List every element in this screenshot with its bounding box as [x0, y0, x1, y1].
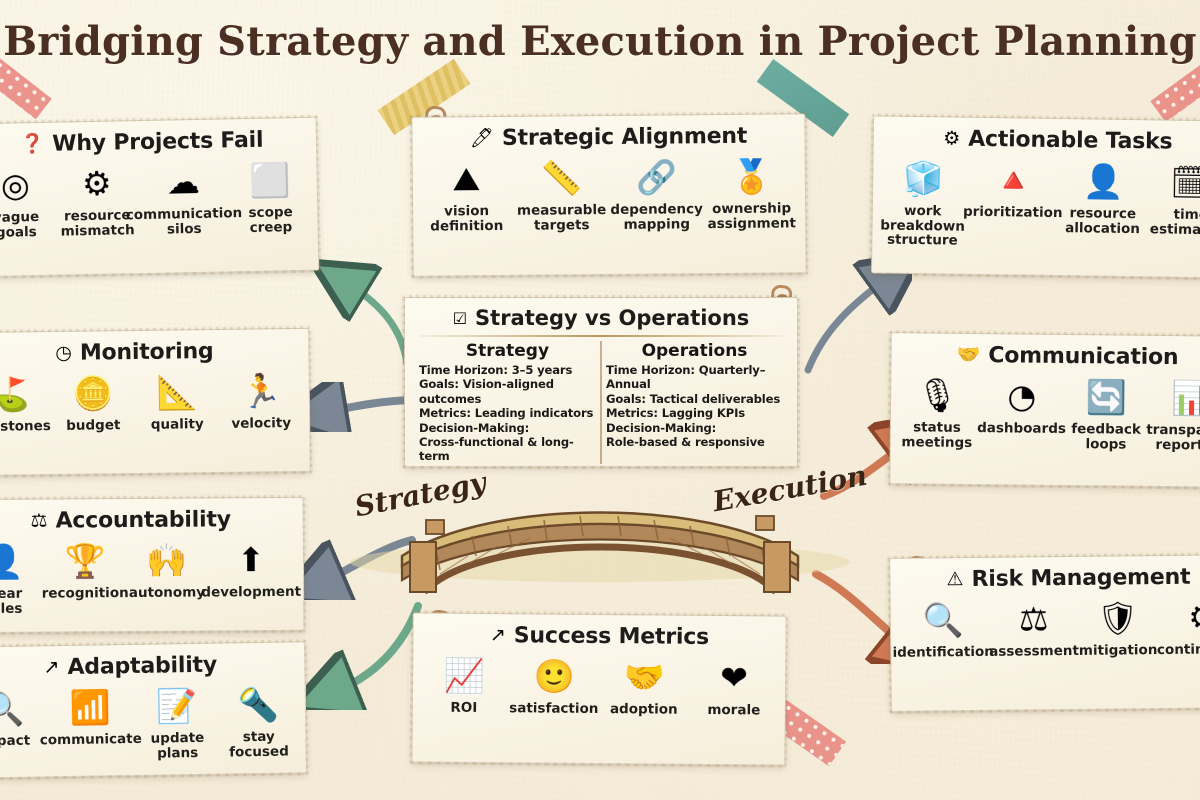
item-label: stay focused — [218, 729, 300, 759]
card-items: 🎙status meetings ◔dashboards 🔄feedback l… — [891, 367, 1200, 453]
row-value: Role-based & responsive — [606, 435, 783, 449]
item-label: identification — [893, 645, 994, 661]
card-items: ◎vague goals ⚙resource mismatch ☁communi… — [0, 152, 318, 241]
question-mark-icon: ❓ — [20, 135, 44, 154]
target-icon: ◎ — [1, 163, 31, 208]
column-strategy: Strategy Time Horizon: 3–5 years Goals: … — [415, 341, 602, 464]
row-value: Metrics: Lagging KPIs — [606, 406, 783, 420]
row-value: Time Horizon: 3–5 years — [419, 363, 596, 377]
list-item[interactable]: 🔄feedback loops — [1066, 375, 1147, 452]
item-label: resource allocation — [1058, 206, 1146, 236]
document-pen-icon: 📝 — [156, 684, 198, 729]
row-value: Cross-functional & long-term — [419, 435, 596, 464]
row-value: Goals: Tactical deliverables — [606, 392, 783, 406]
list-item[interactable]: 🔦stay focused — [217, 682, 300, 759]
item-label: transparent reporting — [1146, 423, 1200, 453]
list-item[interactable]: 👤clear roles — [0, 540, 42, 617]
card-items: 🧊work breakdown structure 🔺prioritizatio… — [872, 150, 1200, 252]
item-label: adoption — [610, 702, 678, 717]
card-communication[interactable]: 🤝 Communication 🎙status meetings ◔dashbo… — [889, 332, 1200, 488]
mountain-sun-icon: ⛰ — [452, 157, 480, 201]
card-strategy-vs-operations[interactable]: ☑ Strategy vs Operations Strategy Time H… — [404, 297, 798, 467]
compass-pen-icon: 🖊 — [470, 129, 494, 148]
blocks-icon: 🧊 — [902, 157, 944, 202]
list-item[interactable]: 🔺prioritization — [967, 158, 1060, 221]
list-item[interactable]: 📏measurable targets — [515, 156, 608, 233]
item-label: communication silos — [126, 206, 243, 237]
list-item[interactable]: ⚖assessment — [989, 597, 1079, 660]
card-title: Success Metrics — [514, 623, 709, 650]
list-item[interactable]: ⚙contingency — [1157, 595, 1200, 658]
list-item[interactable]: 📝update plans — [136, 684, 219, 761]
row-value: Decision-Making: — [419, 421, 596, 435]
list-item[interactable]: 📶communicate — [44, 685, 137, 748]
item-label: ROI — [450, 701, 477, 716]
award-ribbon-icon: 🏆 — [64, 539, 105, 583]
growth-chart-icon: 📈 — [443, 654, 484, 698]
list-item[interactable]: 🛡mitigation — [1078, 596, 1157, 658]
card-success-metrics[interactable]: ↗ Success Metrics 📈ROI 🙂satisfaction 🤝ad… — [411, 612, 786, 765]
page-title: Bridging Strategy and Execution in Proje… — [0, 18, 1200, 65]
item-label: milestones — [0, 419, 51, 435]
checkbox-icon: ☑ — [453, 309, 467, 328]
item-label: dashboards — [977, 421, 1066, 437]
item-label: contingency — [1157, 642, 1200, 658]
row-value: Time Horizon: Quarterly–Annual — [606, 363, 783, 392]
list-item[interactable]: 🗓time estimation — [1146, 160, 1200, 237]
card-items: 🔍impact 📶communicate 📝update plans 🔦stay… — [0, 676, 306, 764]
list-item[interactable]: 🙂satisfaction — [509, 654, 600, 716]
scales-icon: ⚖ — [1019, 597, 1049, 641]
item-label: dependency mapping — [610, 202, 703, 232]
card-header: ↗ Success Metrics — [413, 613, 785, 650]
raised-arms-person-icon: 🙌 — [146, 539, 187, 583]
list-item[interactable]: 📐quality — [135, 370, 220, 433]
item-label: communicate — [40, 732, 142, 748]
gauge-icon: ◔ — [1007, 374, 1036, 418]
person-tools-icon: 👤 — [1082, 159, 1124, 204]
item-label: recognition — [42, 586, 129, 601]
growth-arrows-icon: ⬆ — [237, 538, 265, 582]
gears-icon: ⚙ — [82, 162, 112, 207]
card-title: Why Projects Fail — [52, 128, 264, 157]
bridge-illustration: Strategy Execution — [340, 470, 860, 605]
handshake-team-icon: 🤝 — [623, 655, 664, 699]
card-header: 🖊 Strategic Alignment — [412, 114, 804, 151]
list-item[interactable]: 🤝adoption — [599, 655, 690, 717]
item-label: autonomy — [129, 585, 205, 600]
card-title: Monitoring — [80, 339, 214, 366]
item-label: vague goals — [0, 210, 57, 241]
magnifier-cloud-icon: 🔍 — [922, 598, 964, 642]
row-value: Goals: Vision-aligned outcomes — [419, 377, 596, 406]
list-item[interactable]: ⬆development — [205, 538, 297, 600]
flag-icon: ⛳ — [0, 372, 30, 416]
list-item[interactable]: ⬜scope creep — [229, 158, 312, 236]
card-header: ⚖ Accountability — [0, 498, 303, 534]
chain-link-icon: 🔗 — [636, 155, 677, 199]
list-item[interactable]: 🏆recognition — [41, 539, 128, 601]
list-item[interactable]: 📊transparent reporting — [1146, 376, 1200, 453]
hand-badge-icon: 🏅 — [731, 155, 772, 199]
compare-title: Strategy vs Operations — [475, 306, 749, 330]
card-adaptability[interactable]: ↗ Adaptability 🔍impact 📶communicate 📝upd… — [0, 641, 307, 778]
card-monitoring[interactable]: ◷ Monitoring ⛳milestones 🪙budget 📐qualit… — [0, 328, 311, 476]
spotlight-person-icon: 🔦 — [237, 683, 279, 728]
item-label: time estimation — [1146, 207, 1200, 237]
item-label: feedback loops — [1066, 422, 1147, 452]
expanding-square-icon: ⬜ — [249, 158, 291, 203]
card-items: 🔍identification ⚖assessment 🛡mitigation … — [891, 589, 1200, 660]
card-header: ↗ Adaptability — [0, 642, 304, 681]
card-header: ⚙ Actionable Tasks — [874, 116, 1200, 155]
list-item[interactable]: ☁communication silos — [137, 159, 230, 237]
compare-header: ☑ Strategy vs Operations — [405, 298, 797, 330]
row-value: Metrics: Leading indicators — [419, 406, 596, 420]
up-arrow-icon: ↗ — [490, 626, 506, 645]
microphone-icon: 🎙 — [916, 373, 958, 417]
item-label: vision definition — [421, 204, 513, 234]
list-item[interactable]: ⛳milestones — [0, 372, 51, 435]
list-item[interactable]: 🪙budget — [51, 371, 136, 434]
running-person-icon: 🏃 — [240, 369, 282, 413]
cloud-arrow-icon: ☁ — [166, 160, 200, 205]
ruler-icon: 📏 — [541, 156, 582, 200]
item-label: prioritization — [963, 205, 1063, 221]
item-label: morale — [707, 703, 760, 718]
card-title: Actionable Tasks — [968, 127, 1173, 155]
magnifier-gear-icon: 🔍 — [0, 687, 25, 732]
item-label: clear roles — [0, 587, 42, 617]
list-item[interactable]: 🙌autonomy — [128, 538, 205, 600]
item-label: impact — [0, 734, 30, 749]
card-why-projects-fail[interactable]: ❓ Why Projects Fail ◎vague goals ⚙resour… — [0, 117, 319, 278]
bent-arrow-icon: ↗ — [43, 658, 59, 677]
compare-columns: Strategy Time Horizon: 3–5 years Goals: … — [405, 337, 797, 464]
item-label: scope creep — [230, 205, 312, 236]
item-label: assessment — [989, 644, 1079, 660]
dashboard-icon: ◷ — [55, 344, 72, 363]
item-label: budget — [66, 418, 120, 433]
heart-fist-icon: ❤ — [720, 656, 748, 700]
card-title: Risk Management — [971, 565, 1190, 592]
handshake-icon: 🤝 — [957, 346, 981, 365]
column-header: Strategy — [419, 341, 596, 361]
item-label: update plans — [137, 731, 219, 761]
item-label: velocity — [231, 416, 291, 431]
item-label: development — [201, 585, 301, 600]
card-header: ◷ Monitoring — [0, 329, 309, 367]
card-strategic-alignment[interactable]: 🖊 Strategic Alignment ⛰vision definition… — [411, 113, 806, 276]
person-icon: 👤 — [0, 540, 24, 584]
card-header: 🤝 Communication — [891, 333, 1200, 371]
list-item[interactable]: ◎vague goals — [0, 163, 57, 241]
card-title: Adaptability — [67, 653, 217, 680]
coins-icon: 🪙 — [72, 371, 114, 415]
list-item[interactable]: 👤resource allocation — [1058, 159, 1147, 236]
item-label: measurable targets — [516, 203, 608, 233]
item-label: satisfaction — [509, 701, 598, 716]
signal-waves-icon: 📶 — [69, 685, 111, 730]
item-label: quality — [151, 417, 204, 432]
calendar-clock-icon: 🗓 — [1170, 161, 1200, 206]
list-item[interactable]: 🧊work breakdown structure — [878, 157, 967, 249]
list-item[interactable]: ⛰vision definition — [420, 157, 513, 234]
card-risk-management[interactable]: ⚠ Risk Management 🔍identification ⚖asses… — [889, 554, 1200, 712]
shield-icon: 🛡 — [1097, 596, 1139, 640]
item-label: ownership assignment — [706, 201, 798, 231]
card-items: 👤clear roles 🏆recognition 🙌autonomy ⬆dev… — [0, 532, 303, 617]
gear-icon: ⚙ — [1188, 595, 1200, 639]
list-item[interactable]: 🔗dependency mapping — [610, 155, 703, 232]
item-label: mitigation — [1079, 643, 1158, 658]
list-item[interactable]: ❤morale — [689, 656, 780, 718]
smiley-face-icon: 🙂 — [533, 654, 574, 698]
pyramid-icon: 🔺 — [992, 158, 1034, 203]
gear-icon: ⚙ — [943, 129, 960, 148]
list-item[interactable]: 🏃velocity — [219, 369, 304, 432]
list-item[interactable]: 🔍impact — [0, 686, 45, 749]
card-items: 📈ROI 🙂satisfaction 🤝adoption ❤morale — [413, 647, 786, 718]
column-header: Operations — [606, 341, 783, 361]
list-item[interactable]: 🔍identification — [897, 598, 990, 661]
list-item[interactable]: ◔dashboards — [977, 374, 1066, 437]
warning-triangle-icon: ⚠ — [946, 570, 963, 589]
card-title: Communication — [988, 343, 1178, 370]
card-title: Accountability — [55, 507, 231, 533]
card-title: Strategic Alignment — [502, 124, 747, 151]
balance-scale-icon: ⚖ — [30, 512, 47, 531]
list-item[interactable]: 🏅ownership assignment — [705, 154, 798, 231]
circular-arrows-icon: 🔄 — [1086, 375, 1128, 419]
list-item[interactable]: 📈ROI — [419, 653, 510, 715]
row-value: Decision-Making: — [606, 421, 783, 435]
column-operations: Operations Time Horizon: Quarterly–Annua… — [602, 341, 787, 464]
card-actionable-tasks[interactable]: ⚙ Actionable Tasks 🧊work breakdown struc… — [871, 115, 1200, 278]
ruler-icon: 📐 — [156, 370, 198, 414]
card-items: ⛰vision definition 📏measurable targets 🔗… — [413, 148, 806, 234]
card-header: ⚠ Risk Management — [890, 555, 1200, 593]
card-accountability[interactable]: ⚖ Accountability 👤clear roles 🏆recogniti… — [0, 497, 304, 633]
item-label: work breakdown structure — [878, 204, 967, 249]
item-label: status meetings — [897, 420, 978, 450]
card-items: ⛳milestones 🪙budget 📐quality 🏃velocity — [0, 363, 309, 435]
list-item[interactable]: 🎙status meetings — [897, 373, 978, 450]
report-icon: 📊 — [1171, 376, 1200, 420]
